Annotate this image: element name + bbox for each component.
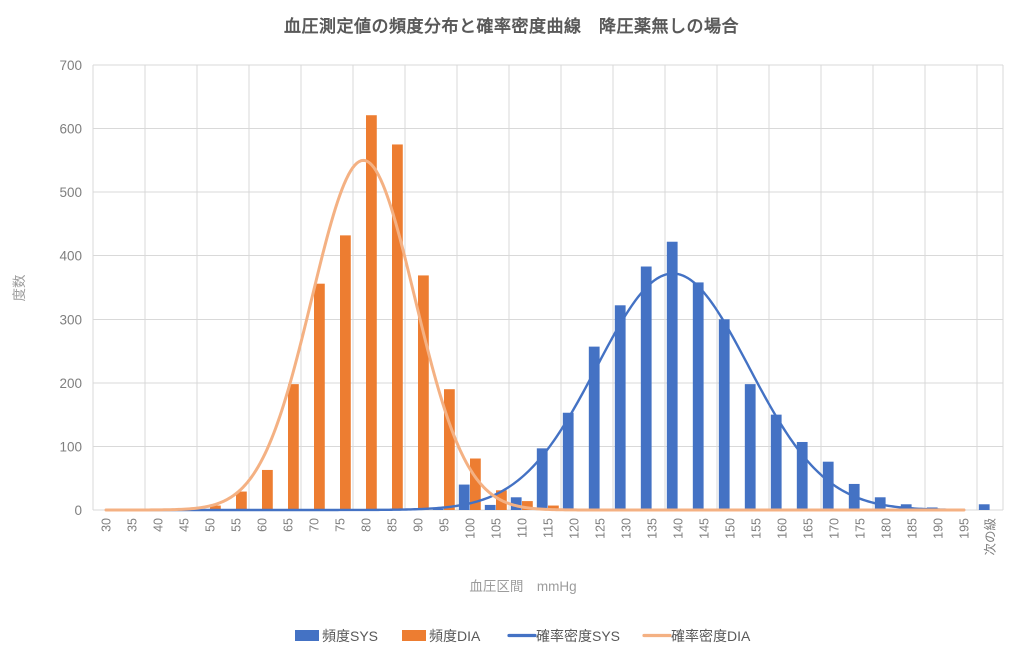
x-axis-tick-label: 175 [854,518,868,539]
y-axis-tick-label: 500 [59,185,82,200]
bar [615,305,626,510]
x-axis-tick-label: 125 [594,518,608,539]
x-axis-labels: 3035404550556065707580859095100105110115… [100,518,998,556]
bar [262,470,273,510]
x-axis-tick-label: 55 [230,518,244,532]
bar [366,115,377,510]
bar [485,505,496,510]
x-axis-tick-label: 140 [672,518,686,539]
x-axis-tick-label: 115 [542,518,556,538]
x-axis-tick-label: 120 [568,518,582,539]
x-axis-tick-label: 40 [152,518,166,532]
x-axis-tick-label: 70 [308,518,322,532]
bar [340,235,351,510]
legend-swatch-bar [295,630,319,641]
y-axis-tick-label: 300 [59,312,82,327]
x-axis-tick-label: 170 [828,518,842,539]
legend-item-1[interactable]: 頻度SYS [295,628,378,644]
legend: 頻度SYS頻度DIA確率密度SYS確率密度DIA [295,628,751,644]
bar [771,415,782,510]
chart-container: 血圧測定値の頻度分布と確率密度曲線 降圧薬無しの場合 0100200300400… [0,0,1023,658]
y-axis-tick-label: 0 [74,503,82,518]
x-axis-title: 血圧区間 mmHg [469,579,576,594]
x-axis-tick-label: 30 [100,518,114,532]
x-axis-tick-label: 45 [178,518,192,532]
legend-label: 頻度DIA [429,628,481,644]
x-axis-tick-label: 100 [464,518,478,539]
legend-label: 頻度SYS [322,628,378,644]
x-axis-tick-label: 50 [204,518,218,532]
y-axis-tick-label: 200 [59,376,82,391]
bar [641,267,652,510]
x-axis-tick-label: 90 [412,518,426,532]
bar [823,462,834,510]
bar [667,242,678,510]
x-axis-tick-label: 145 [698,518,712,539]
plot-background [93,65,1003,510]
y-axis-title: 度数 [12,274,27,301]
x-axis-tick-label: 65 [282,518,296,532]
legend-item-3[interactable]: 確率密度SYS [509,628,620,644]
bar [719,319,730,510]
x-axis-tick-label: 95 [438,518,452,532]
bar [314,284,325,510]
x-axis-tick-label: 85 [386,518,400,532]
x-axis-tick-label: 130 [620,518,634,539]
x-axis-tick-label: 190 [932,518,946,539]
y-axis-tick-label: 400 [59,249,82,264]
legend-swatch-bar [402,630,426,641]
x-axis-tick-label: 150 [724,518,738,539]
y-axis-tick-label: 100 [59,439,82,454]
x-axis-tick-label: 105 [490,518,504,539]
bar [979,504,990,510]
y-axis-tick-label: 600 [59,122,82,137]
x-axis-tick-label: 195 [958,518,972,539]
legend-label: 確率密度SYS [536,628,620,644]
x-axis-tick-label: 75 [334,518,348,532]
bar [236,492,247,510]
chart-canvas: 0100200300400500600700303540455055606570… [0,0,1023,658]
x-axis-tick-label: 135 [646,518,660,539]
x-axis-tick-label: 160 [776,518,790,539]
x-axis-tick-label: 60 [256,518,270,532]
bar [288,384,299,510]
bar [693,282,704,510]
x-axis-tick-label: 155 [750,518,764,539]
legend-label: 確率密度DIA [671,628,751,644]
legend-item-2[interactable]: 頻度DIA [402,628,481,644]
x-axis-tick-label: 80 [360,518,374,532]
bar [563,413,574,510]
legend-item-4[interactable]: 確率密度DIA [644,628,751,644]
x-axis-tick-label: 180 [880,518,894,539]
x-axis-tick-label: 次の級 [984,518,998,556]
bar [745,384,756,510]
bar [418,275,429,510]
x-axis-tick-label: 110 [516,518,530,538]
y-axis-tick-label: 700 [59,58,82,73]
bar [392,144,403,510]
x-axis-tick-label: 185 [906,518,920,539]
x-axis-tick-label: 165 [802,518,816,539]
bar [444,389,455,510]
bar [797,442,808,510]
x-axis-tick-label: 35 [126,518,140,532]
